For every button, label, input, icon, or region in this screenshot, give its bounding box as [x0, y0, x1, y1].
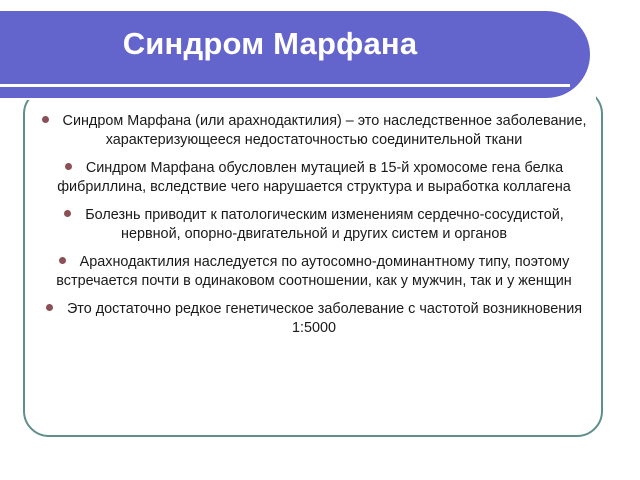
round-bullet-icon: [65, 163, 72, 170]
title-banner: Синдром Марфана: [0, 11, 590, 98]
list-item-text: Болезнь приводит к патологическим измене…: [85, 207, 564, 242]
list-item-text: Это достаточно редкое генетическое забол…: [67, 301, 582, 336]
round-bullet-icon: [46, 304, 53, 311]
list-item-text: Арахнодактилия наследуется по аутосомно-…: [56, 254, 571, 289]
title-underline: [0, 84, 570, 87]
list-item: Это достаточно редкое генетическое забол…: [36, 300, 592, 338]
bullet-list: Синдром Марфана (или арахнодактилия) – э…: [36, 112, 592, 338]
list-item-text: Синдром Марфана (или арахнодактилия) – э…: [63, 113, 587, 148]
list-item: Болезнь приводит к патологическим измене…: [36, 206, 592, 244]
round-bullet-icon: [42, 116, 49, 123]
round-bullet-icon: [59, 257, 66, 264]
round-bullet-icon: [64, 210, 71, 217]
list-item: Синдром Марфана обусловлен мутацией в 15…: [36, 159, 592, 197]
page-title: Синдром Марфана: [0, 25, 540, 63]
list-item: Арахнодактилия наследуется по аутосомно-…: [36, 253, 592, 291]
list-item: Синдром Марфана (или арахнодактилия) – э…: [36, 112, 592, 150]
slide-canvas: Синдром Марфана Синдром Марфана (или ара…: [0, 0, 640, 480]
list-item-text: Синдром Марфана обусловлен мутацией в 15…: [57, 160, 571, 195]
